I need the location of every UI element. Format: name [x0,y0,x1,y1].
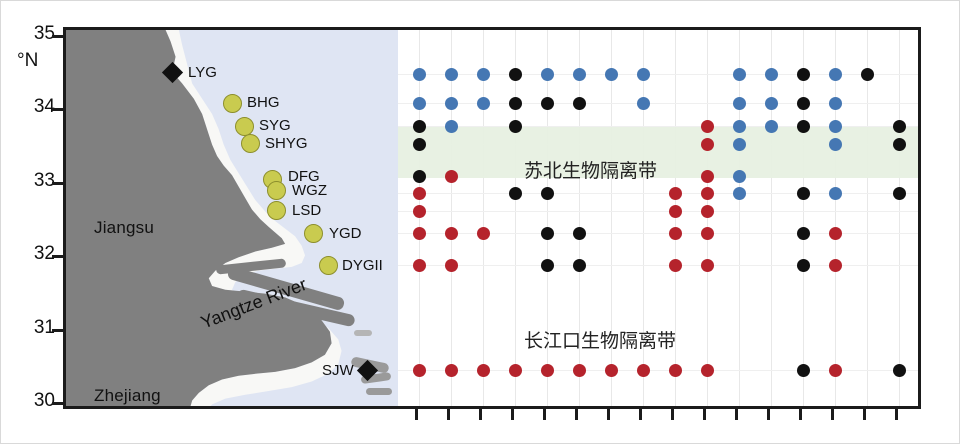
scatter-dot-black[interactable] [413,170,426,183]
scatter-dot-black[interactable] [893,364,906,377]
vertical-gridline-14 [867,30,868,406]
scatter-dot-black[interactable] [893,138,906,151]
scatter-dot-blue[interactable] [637,68,650,81]
islet-c [366,388,392,395]
scatter-dot-black[interactable] [509,120,522,133]
scatter-dot-black[interactable] [797,364,810,377]
scatter-dot-red[interactable] [829,364,842,377]
scatter-dot-blue[interactable] [829,97,842,110]
scatter-dot-blue[interactable] [445,68,458,81]
x-tick-mark-12 [799,409,802,420]
y-tick-mark-30 [52,402,63,405]
scatter-dot-blue[interactable] [829,120,842,133]
scatter-dot-black[interactable] [573,97,586,110]
x-tick-mark-3 [511,409,514,420]
station-label-lyg: LYG [188,64,217,81]
scatter-dot-red[interactable] [701,227,714,240]
y-tick-label-32: 32 [9,243,55,265]
province-label-jiangsu: Jiangsu [94,218,154,238]
x-tick-mark-8 [671,409,674,420]
scatter-dot-black[interactable] [541,97,554,110]
x-tick-mark-13 [831,409,834,420]
scatter-dot-black[interactable] [509,97,522,110]
vertical-gridline-12 [803,30,804,406]
scatter-dot-black[interactable] [413,120,426,133]
scatter-dot-red[interactable] [413,205,426,218]
scatter-dot-blue[interactable] [765,97,778,110]
scatter-dot-red[interactable] [701,138,714,151]
vertical-gridline-15 [899,30,900,406]
horizontal-gridline-r7 [398,211,918,212]
scatter-dot-red[interactable] [701,259,714,272]
scatter-dot-black[interactable] [893,120,906,133]
scatter-dot-red[interactable] [445,227,458,240]
vertical-gridline-3 [515,30,516,406]
station-label-shyg: SHYG [265,135,308,152]
y-tick-mark-33 [52,182,63,185]
scatter-dot-red[interactable] [541,364,554,377]
scatter-dot-black[interactable] [509,68,522,81]
x-tick-mark-7 [639,409,642,420]
scatter-dot-red[interactable] [413,227,426,240]
x-tick-mark-10 [735,409,738,420]
station-marker-lsd[interactable] [267,201,286,220]
scatter-dot-red[interactable] [701,205,714,218]
scatter-dot-red[interactable] [829,259,842,272]
x-tick-mark-11 [767,409,770,420]
scatter-dot-blue[interactable] [733,187,746,200]
scatter-dot-red[interactable] [701,187,714,200]
scatter-dot-black[interactable] [797,97,810,110]
subei-band-highlight [398,127,918,178]
scatter-dot-blue[interactable] [445,120,458,133]
station-label-bhg: BHG [247,94,280,111]
scatter-dot-blue[interactable] [477,68,490,81]
station-marker-shyg[interactable] [241,134,260,153]
station-label-sjw: SJW [322,362,354,379]
scatter-dot-blue[interactable] [413,97,426,110]
y-tick-mark-34 [52,108,63,111]
scatter-dot-black[interactable] [797,187,810,200]
y-tick-label-34: 34 [9,96,55,118]
scatter-dot-black[interactable] [541,227,554,240]
scatter-dot-red[interactable] [445,170,458,183]
scatter-dot-blue[interactable] [829,68,842,81]
x-tick-mark-5 [575,409,578,420]
station-marker-wgz[interactable] [267,181,286,200]
scatter-dot-black[interactable] [509,187,522,200]
x-tick-mark-4 [543,409,546,420]
y-tick-mark-32 [52,255,63,258]
vertical-gridline-10 [739,30,740,406]
y-tick-label-33: 33 [9,170,55,192]
scatter-dot-black[interactable] [797,227,810,240]
y-tick-label-31: 31 [9,317,55,339]
scatter-dot-black[interactable] [861,68,874,81]
scatter-dot-red[interactable] [701,120,714,133]
band-label-subei: 苏北生物隔离带 [524,156,657,183]
station-label-dygii: DYGII [342,257,383,274]
scatter-dot-blue[interactable] [733,138,746,151]
scatter-dot-blue[interactable] [733,170,746,183]
scatter-dot-black[interactable] [413,138,426,151]
scatter-dot-blue[interactable] [637,97,650,110]
station-label-ygd: YGD [329,225,362,242]
scatter-dot-black[interactable] [797,259,810,272]
scatter-dot-red[interactable] [637,364,650,377]
scatter-dot-red[interactable] [477,364,490,377]
scatter-dot-blue[interactable] [413,68,426,81]
scatter-dot-red[interactable] [605,364,618,377]
scatter-dot-blue[interactable] [765,120,778,133]
scatter-dot-blue[interactable] [829,138,842,151]
scatter-dot-red[interactable] [445,259,458,272]
y-tick-mark-31 [52,329,63,332]
scatter-dot-black[interactable] [893,187,906,200]
scatter-dot-red[interactable] [477,227,490,240]
scatter-dot-blue[interactable] [477,97,490,110]
scatter-dot-red[interactable] [829,227,842,240]
x-tick-mark-0 [415,409,418,420]
x-tick-mark-2 [479,409,482,420]
x-tick-mark-9 [703,409,706,420]
scatter-dot-red[interactable] [413,187,426,200]
scatter-dot-red[interactable] [669,187,682,200]
scatter-dot-black[interactable] [541,259,554,272]
scatter-dot-red[interactable] [445,364,458,377]
scatter-dot-blue[interactable] [733,97,746,110]
station-label-lsd: LSD [292,202,321,219]
scatter-dot-blue[interactable] [541,68,554,81]
station-marker-dygii[interactable] [319,256,338,275]
vertical-gridline-0 [419,30,420,406]
scatter-dot-red[interactable] [669,205,682,218]
scatter-dot-red[interactable] [669,227,682,240]
station-marker-ygd[interactable] [304,224,323,243]
plot-frame: Jiangsu Zhejiang Yangtze River LYGBHGSYG… [63,27,921,409]
vertical-gridline-13 [835,30,836,406]
y-tick-mark-35 [52,35,63,38]
scatter-dot-black[interactable] [797,120,810,133]
province-label-zhejiang: Zhejiang [94,386,161,406]
y-tick-label-30: 30 [9,390,55,412]
figure-canvas: 353433323130 °N Jiangsu Zhejiang Yangtze… [0,0,960,444]
x-tick-mark-6 [607,409,610,420]
band-label-changjiangkou: 长江口生物隔离带 [524,326,676,353]
scatter-dot-black[interactable] [573,259,586,272]
scatter-dot-red[interactable] [669,259,682,272]
vertical-gridline-9 [707,30,708,406]
scatter-dot-black[interactable] [797,68,810,81]
scatter-dot-blue[interactable] [765,68,778,81]
scatter-dot-black[interactable] [573,227,586,240]
scatter-dot-blue[interactable] [829,187,842,200]
station-label-syg: SYG [259,117,291,134]
vertical-gridline-2 [483,30,484,406]
scatter-dot-red[interactable] [669,364,682,377]
scatter-dot-blue[interactable] [733,68,746,81]
x-tick-mark-15 [895,409,898,420]
vertical-gridline-1 [451,30,452,406]
station-label-wgz: WGZ [292,182,327,199]
y-tick-label-35: 35 [9,23,55,45]
scatter-dot-blue[interactable] [445,97,458,110]
scatter-dot-red[interactable] [701,364,714,377]
vertical-gridline-11 [771,30,772,406]
scatter-dot-black[interactable] [541,187,554,200]
x-tick-mark-1 [447,409,450,420]
station-marker-bhg[interactable] [223,94,242,113]
scatter-dot-red[interactable] [413,364,426,377]
scatter-dot-red[interactable] [413,259,426,272]
scatter-dot-red[interactable] [701,170,714,183]
map-panel: Jiangsu Zhejiang Yangtze River LYGBHGSYG… [66,30,398,406]
scatter-dot-blue[interactable] [605,68,618,81]
scatter-dot-blue[interactable] [573,68,586,81]
islet-d [354,330,372,336]
y-axis-unit-label: °N [17,50,38,72]
scatter-panel: 苏北生物隔离带 长江口生物隔离带 [398,30,918,406]
scatter-dot-blue[interactable] [733,120,746,133]
scatter-dot-red[interactable] [573,364,586,377]
scatter-dot-red[interactable] [509,364,522,377]
x-tick-mark-14 [863,409,866,420]
